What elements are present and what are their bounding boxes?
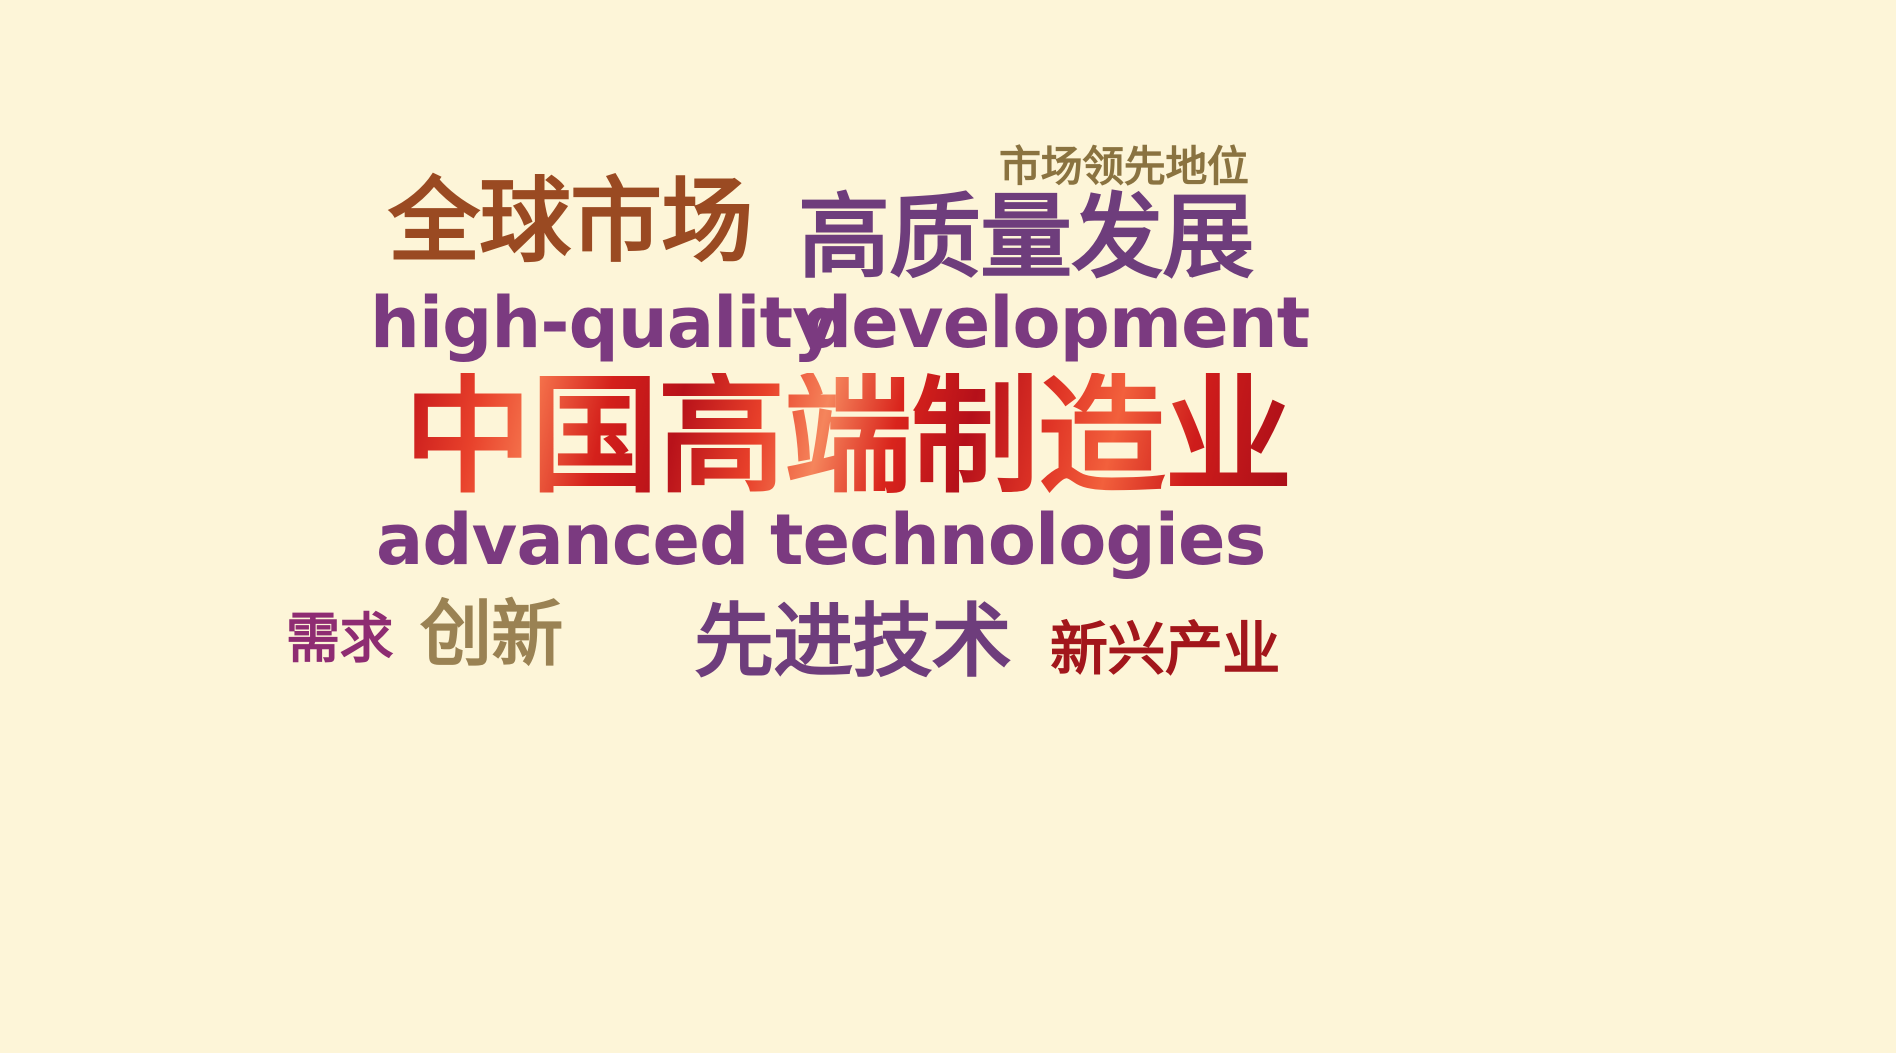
word-advanced: advanced [376,505,748,575]
word-demand: 需求 [286,612,393,666]
word-cloud-canvas: 市场领先地位 全球市场 高质量发展 high-quality developme… [0,0,1896,1053]
word-technologies: technologies [770,505,1265,575]
word-high-quality-development-cjk: 高质量发展 [798,192,1253,284]
word-innovation: 创新 [420,598,563,670]
word-global-market: 全球市场 [388,176,752,268]
word-high-quality: high-quality [370,288,837,358]
word-china-high-end-manufacturing: 中国高端制造业 [404,373,1291,501]
word-emerging-industry: 新兴产业 [1050,620,1280,678]
word-market-leading-position: 市场领先地位 [999,146,1248,188]
word-advanced-technology-cjk: 先进技术 [694,602,1011,682]
word-development: development [802,288,1309,358]
